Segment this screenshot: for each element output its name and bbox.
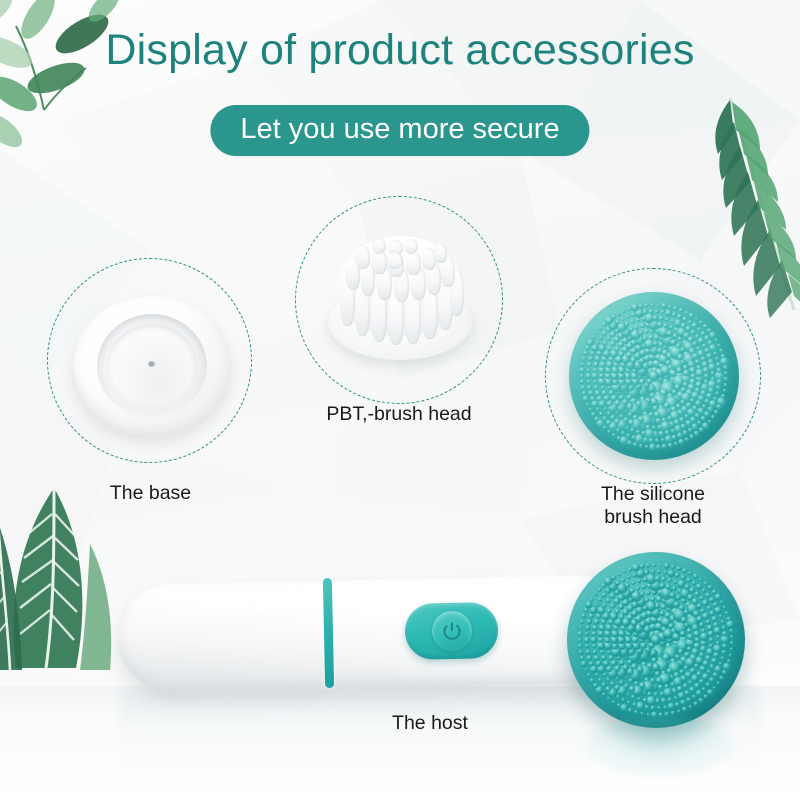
- caption-pbt-brush-head: PBT,-brush head: [295, 403, 503, 426]
- caption-host: The host: [330, 712, 530, 735]
- host-device: [118, 580, 608, 695]
- page-title: Display of product accessories: [0, 26, 800, 74]
- pbt-bristle-body: [338, 236, 462, 336]
- silicone-nubs-pattern-host: [567, 552, 745, 728]
- caption-base: The base: [48, 482, 253, 505]
- power-button[interactable]: [404, 602, 498, 660]
- host-attached-silicone-head: [567, 552, 745, 728]
- product-accessories-infographic: Display of product accessories Let you u…: [0, 0, 800, 800]
- silicone-head-reflection: [585, 716, 735, 776]
- silicone-nubs-pattern: [569, 292, 739, 460]
- caption-silicone-brush-head-line1: The silicone: [545, 483, 761, 506]
- accessory-image-base: [73, 288, 233, 448]
- accessory-image-silicone-brush-head: [569, 292, 739, 460]
- base-center-dot: [148, 361, 155, 367]
- power-button-ring: [431, 611, 472, 652]
- power-icon: [441, 620, 462, 641]
- subtitle-pill: Let you use more secure: [210, 105, 589, 156]
- caption-silicone-brush-head-line2: brush head: [545, 506, 761, 529]
- accessory-image-pbt-brush-head: [318, 222, 482, 382]
